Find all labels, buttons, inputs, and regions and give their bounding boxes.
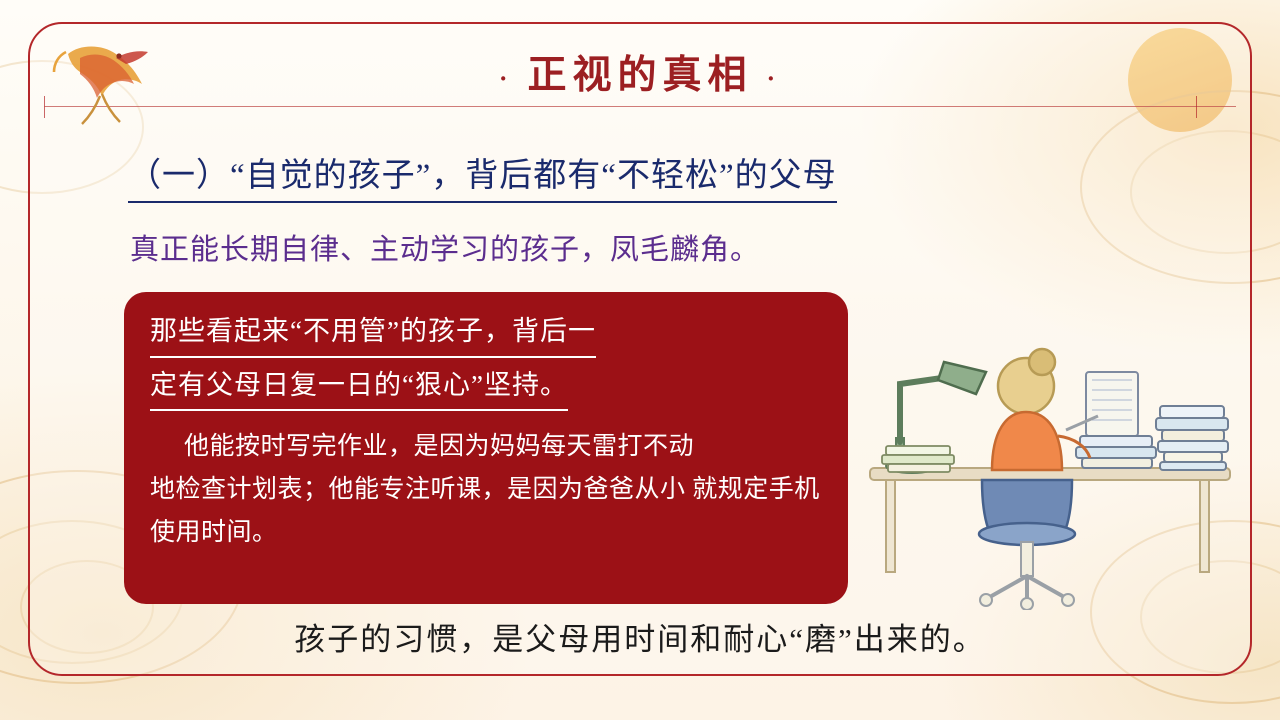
frame-divider-line bbox=[44, 106, 1236, 107]
highlight-card: 那些看起来“不用管”的孩子，背后一 定有父母日复一日的“狠心”坚持。 他能按时写… bbox=[124, 292, 848, 604]
title-dot-right: · bbox=[767, 64, 782, 93]
section-heading-secondary: 真正能长期自律、主动学习的孩子，凤毛麟角。 bbox=[130, 226, 760, 268]
page-title: ·正视的真相· bbox=[0, 44, 1280, 100]
title-dot-left: · bbox=[499, 64, 514, 93]
highlight-card-body-line-1: 他能按时写完作业，是因为妈妈每天雷打不动 bbox=[150, 425, 822, 468]
page-title-text: 正视的真相 bbox=[527, 54, 752, 97]
section-heading-primary: （一）“自觉的孩子”，背后都有“不轻松”的父母 bbox=[128, 148, 837, 203]
highlight-card-line-2: 定有父母日复一日的“狠心”坚持。 bbox=[150, 364, 568, 412]
highlight-card-line-1: 那些看起来“不用管”的孩子，背后一 bbox=[150, 310, 596, 358]
child-studying-at-desk-illustration bbox=[860, 320, 1240, 610]
highlight-card-body-line-2: 地检查计划表；他能专注听课，是因为爸爸从小 bbox=[150, 476, 686, 503]
highlight-card-body: 他能按时写完作业，是因为妈妈每天雷打不动 地检查计划表；他能专注听课，是因为爸爸… bbox=[150, 425, 822, 554]
closing-statement: 孩子的习惯，是父母用时间和耐心“磨”出来的。 bbox=[0, 614, 1280, 659]
